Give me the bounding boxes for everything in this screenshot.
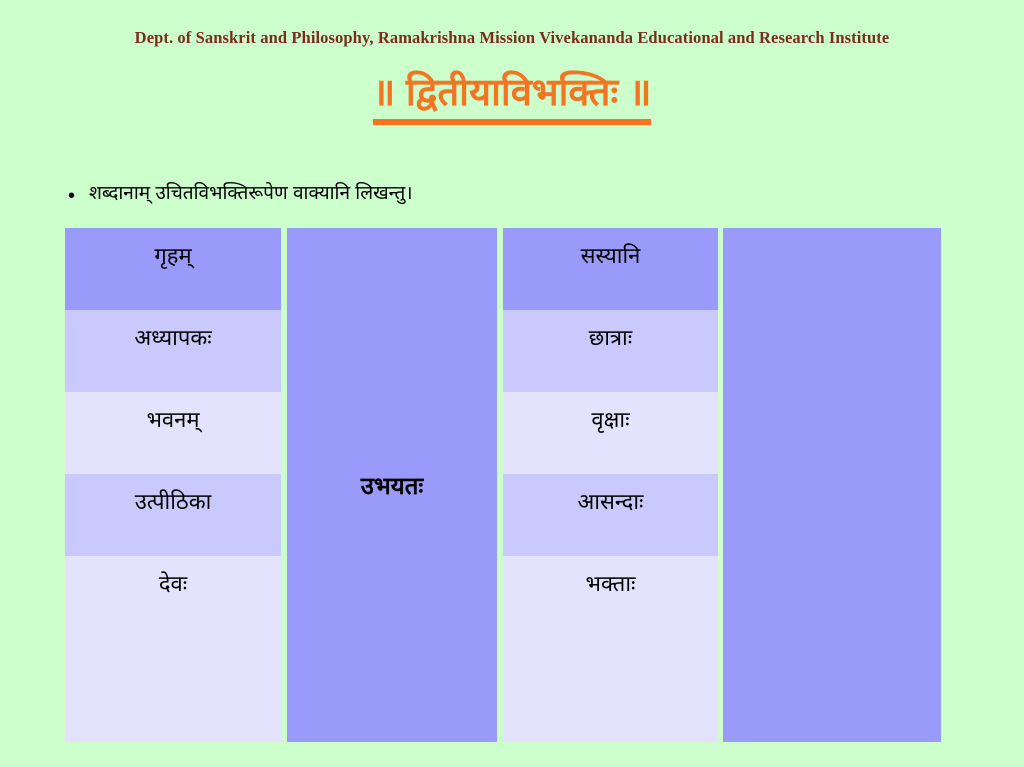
- table-cell[interactable]: सस्यानि: [503, 228, 718, 310]
- table-cell[interactable]: भक्ताः: [503, 556, 718, 742]
- instruction-text: शब्दानाम् उचितविभक्तिरूपेण वाक्यानि लिखन…: [89, 182, 413, 207]
- table-cell-answer-blank[interactable]: [723, 228, 941, 742]
- table-column-indeclinable: उभयतः: [287, 228, 497, 742]
- table-cell[interactable]: गृहम्: [65, 228, 281, 310]
- table-cell-merged[interactable]: उभयतः: [287, 228, 497, 742]
- slide: Dept. of Sanskrit and Philosophy, Ramakr…: [0, 0, 1024, 767]
- table-cell[interactable]: वृक्षाः: [503, 392, 718, 474]
- table-column-subject: गृहम् अध्यापकः भवनम् उत्पीठिका देवः: [65, 228, 281, 742]
- page-title-text: ॥ द्वितीयाविभक्तिः ॥: [373, 72, 652, 125]
- table-cell[interactable]: आसन्दाः: [503, 474, 718, 556]
- exercise-table: गृहम् अध्यापकः भवनम् उत्पीठिका देवः उभयत…: [65, 228, 941, 742]
- table-column-object: सस्यानि छात्राः वृक्षाः आसन्दाः भक्ताः: [503, 228, 718, 742]
- bullet-icon: •: [68, 182, 75, 206]
- institute-header: Dept. of Sanskrit and Philosophy, Ramakr…: [0, 28, 1024, 48]
- table-cell[interactable]: अध्यापकः: [65, 310, 281, 392]
- table-cell[interactable]: देवः: [65, 556, 281, 742]
- instruction-bullet: • शब्दानाम् उचितविभक्तिरूपेण वाक्यानि लि…: [68, 182, 948, 207]
- table-cell[interactable]: छात्राः: [503, 310, 718, 392]
- table-cell[interactable]: भवनम्: [65, 392, 281, 474]
- table-cell[interactable]: उत्पीठिका: [65, 474, 281, 556]
- table-column-answer: [723, 228, 941, 742]
- page-title: ॥ द्वितीयाविभक्तिः ॥: [0, 72, 1024, 125]
